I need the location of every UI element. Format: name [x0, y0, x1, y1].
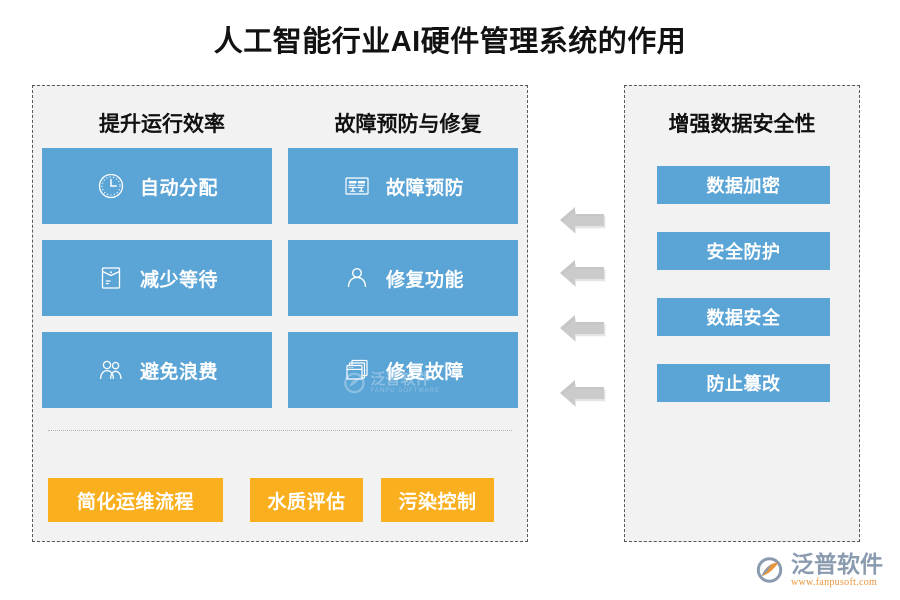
envelope-icon	[96, 263, 126, 293]
tag-simplify-ops[interactable]: 简化运维流程	[48, 478, 223, 522]
card-repair-func[interactable]: 修复功能	[288, 240, 518, 316]
card-label: 修复故障	[386, 357, 464, 384]
security-bar-label: 数据安全	[707, 304, 781, 330]
user-icon	[342, 263, 372, 293]
section-divider	[48, 430, 512, 431]
arrow-left-icon-0	[558, 202, 606, 238]
card-label: 自动分配	[140, 173, 218, 200]
arrow-left-icon-3	[558, 375, 606, 411]
tag-pollution-control[interactable]: 污染控制	[381, 478, 494, 522]
security-bar-protection[interactable]: 安全防护	[657, 232, 830, 270]
fanpu-mark-icon	[756, 556, 786, 584]
card-repair-fault[interactable]: 修复故障	[288, 332, 518, 408]
tag-label: 简化运维流程	[77, 487, 194, 514]
logo-url: www.fanpusoft.com	[791, 577, 883, 588]
card-less-wait[interactable]: 减少等待	[42, 240, 272, 316]
logo-name: 泛普软件	[791, 552, 883, 576]
fanpu-logo[interactable]: 泛普软件 www.fanpusoft.com	[756, 548, 896, 592]
clock-icon	[96, 171, 126, 201]
column-header-efficiency: 提升运行效率	[42, 108, 282, 138]
page-title: 人工智能行业AI硬件管理系统的作用	[0, 18, 900, 60]
tag-label: 污染控制	[398, 487, 476, 514]
tag-water-quality[interactable]: 水质评估	[250, 478, 363, 522]
arrow-left-icon-1	[558, 255, 606, 291]
poster-canvas: 人工智能行业AI硬件管理系统的作用 提升运行效率 故障预防与修复 自动分配 减少…	[0, 0, 900, 600]
column-header-fault: 故障预防与修复	[288, 108, 528, 138]
security-bar-anti-tamper[interactable]: 防止篡改	[657, 364, 830, 402]
security-bar-label: 安全防护	[707, 238, 781, 264]
tag-label: 水质评估	[267, 487, 345, 514]
card-label: 修复功能	[386, 265, 464, 292]
security-bar-label: 数据加密	[707, 172, 781, 198]
arrow-left-icon-2	[558, 310, 606, 346]
card-label: 避免浪费	[140, 357, 218, 384]
card-label: 故障预防	[386, 173, 464, 200]
column-header-security: 增强数据安全性	[630, 108, 854, 138]
list-document-icon	[342, 171, 372, 201]
card-label: 减少等待	[140, 265, 218, 292]
security-bar-encryption[interactable]: 数据加密	[657, 166, 830, 204]
card-auto-assign[interactable]: 自动分配	[42, 148, 272, 224]
security-bar-label: 防止篡改	[707, 370, 781, 396]
security-bar-data-safety[interactable]: 数据安全	[657, 298, 830, 336]
windows-stack-icon	[342, 355, 372, 385]
card-avoid-waste[interactable]: 避免浪费	[42, 332, 272, 408]
card-fault-prevent[interactable]: 故障预防	[288, 148, 518, 224]
users-icon	[96, 355, 126, 385]
